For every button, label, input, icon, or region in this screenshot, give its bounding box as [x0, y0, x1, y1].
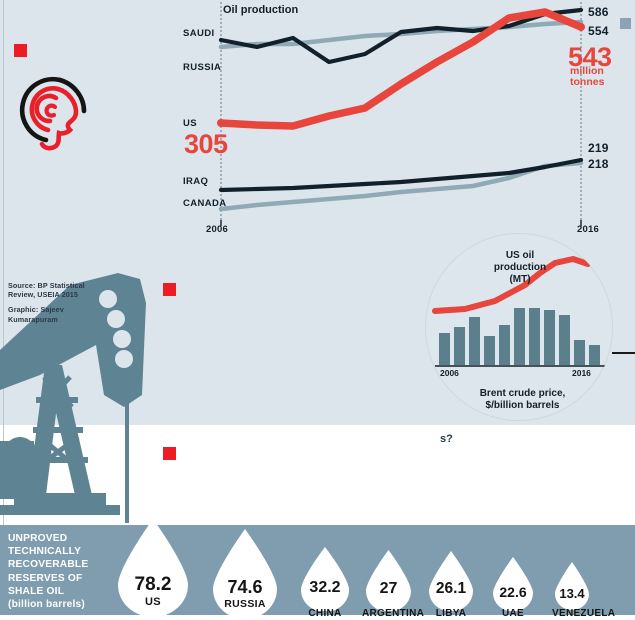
- value-label-us-start: 305: [184, 131, 228, 158]
- droplet-value: 78.2: [112, 574, 194, 596]
- droplet-russia: 74.6 RUSSIA: [207, 527, 283, 619]
- source-credit: Source: BP Statistical Review, USEIA 201…: [8, 281, 108, 324]
- chart-title: Oil production: [223, 4, 298, 16]
- droplet-value: 27: [362, 580, 415, 598]
- band-title-line-1: UNPROVED: [8, 532, 113, 545]
- credit-source-line: Source: BP Statistical Review, USEIA 201…: [8, 281, 108, 299]
- value-label-iraq: 219: [588, 141, 609, 155]
- horizontal-rule-decoration: [612, 352, 635, 354]
- red-square-marker-top: [14, 44, 27, 57]
- infographic-canvas: Source: BP Statistical Review, USEIA 201…: [0, 0, 635, 620]
- value-label-saudi: 586: [588, 5, 609, 19]
- droplet-argentina: 27 ARGENTINA: [362, 548, 415, 611]
- droplet-china: 32.2 CHINA: [297, 545, 353, 611]
- value-label-canada: 218: [588, 157, 609, 171]
- us-start-point: [217, 119, 225, 127]
- credit-graphic-line: Graphic: Sajeev Kumarapuram: [8, 305, 108, 323]
- droplet-us: 78.2 US: [112, 517, 194, 617]
- droplet-country: US: [112, 596, 194, 608]
- axis-label-start-year: 2006: [206, 224, 228, 235]
- value-label-russia: 554: [588, 24, 609, 38]
- series-label-iraq: IRAQ: [183, 176, 208, 187]
- unit-label-million-tonnes: million tonnes: [570, 66, 635, 88]
- series-line-us: [221, 12, 581, 126]
- droplet-country: CHINA: [297, 608, 353, 619]
- series-label-saudi: SAUDI: [183, 28, 215, 39]
- droplet-venezuela: 13.4 VENEZUELA: [552, 560, 592, 610]
- series-label-russia: RUSSIA: [183, 62, 221, 73]
- inset-chart-title: US oil production (MT): [480, 250, 560, 286]
- spiral-head-logo-icon: [14, 70, 109, 155]
- band-title-line-2: TECHNICALLY: [8, 545, 113, 558]
- inset-bars: [439, 308, 600, 365]
- droplet-value: 22.6: [490, 584, 536, 600]
- series-line-iraq: [221, 160, 581, 190]
- droplet-value: 32.2: [297, 579, 353, 597]
- droplet-shape-icon: [552, 560, 592, 610]
- droplet-country: LIBYA: [425, 608, 477, 619]
- droplet-libya: 26.1 LIBYA: [425, 549, 477, 611]
- droplet-country: VENEZUELA: [552, 608, 592, 619]
- droplet-country: UAE: [490, 608, 536, 619]
- band-title-line-6: (billion barrels): [8, 598, 113, 611]
- droplet-country: ARGENTINA: [362, 608, 415, 619]
- band-title-line-3: RECOVERABLE: [8, 558, 113, 571]
- inset-axis-start-year: 2006: [440, 368, 459, 378]
- droplet-shape-icon: [490, 555, 536, 611]
- series-label-us: US: [183, 118, 197, 129]
- droplet-country: RUSSIA: [207, 598, 283, 610]
- series-label-canada: CANADA: [183, 198, 227, 209]
- inset-axis-end-year: 2016: [572, 368, 591, 378]
- shale-reserves-droplets: 78.2 US 74.6 RUSSIA 32.2 CHINA 27 ARGENT…: [112, 505, 635, 617]
- droplet-value: 74.6: [207, 577, 283, 598]
- cropped-headline-fragment: s?: [440, 433, 453, 445]
- inset-chart-caption: Brent crude price, $/billion barrels: [455, 388, 590, 412]
- droplet-value: 13.4: [552, 586, 592, 601]
- bottom-band-title: UNPROVED TECHNICALLY RECOVERABLE RESERVE…: [8, 532, 113, 611]
- droplet-shape-icon: [297, 545, 353, 611]
- band-title-line-5: SHALE OIL: [8, 585, 113, 598]
- droplet-uae: 22.6 UAE: [490, 555, 536, 611]
- main-line-chart: [185, 0, 635, 240]
- band-title-line-4: RESERVES OF: [8, 572, 113, 585]
- droplet-value: 26.1: [425, 580, 477, 598]
- us-end-point: [577, 23, 585, 31]
